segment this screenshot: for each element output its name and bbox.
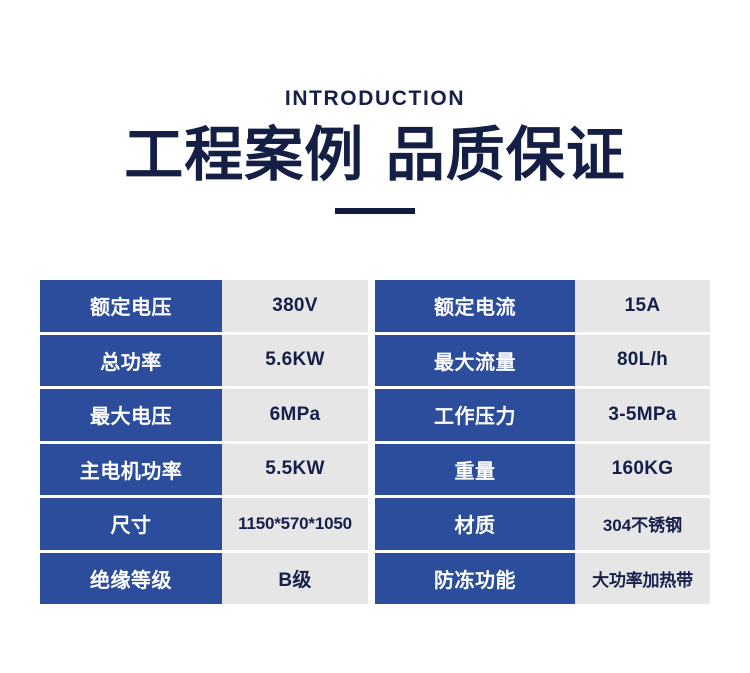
spec-value: 5.5KW [222,444,368,496]
spec-label: 重量 [375,444,575,496]
table-row: 额定电流 15A [375,280,710,335]
spec-label: 最大电压 [40,389,222,441]
spec-label: 最大流量 [375,335,575,387]
table-row: 总功率 5.6KW [40,335,368,390]
table-row: 最大流量 80L/h [375,335,710,390]
spec-label: 工作压力 [375,389,575,441]
spec-sheet-page: INTRODUCTION 工程案例 品质保证 额定电压 380V 总功率 5.6… [0,0,750,673]
spec-value: 304不锈钢 [575,498,710,550]
section-eyebrow: INTRODUCTION [0,86,750,112]
spec-value: 5.6KW [222,335,368,387]
spec-value: 3-5MPa [575,389,710,441]
page-title: 工程案例 品质保证 [0,118,750,192]
table-row: 工作压力 3-5MPa [375,389,710,444]
title-underline-rule [335,208,415,214]
page-header: INTRODUCTION 工程案例 品质保证 [0,0,750,214]
table-row: 主电机功率 5.5KW [40,444,368,499]
table-row: 最大电压 6MPa [40,389,368,444]
spec-value: 160KG [575,444,710,496]
table-row: 绝缘等级 B级 [40,553,368,605]
spec-table-left: 额定电压 380V 总功率 5.6KW 最大电压 6MPa 主电机功率 5.5K… [40,280,368,604]
spec-label: 主电机功率 [40,444,222,496]
table-row: 重量 160KG [375,444,710,499]
spec-value: 15A [575,280,710,332]
spec-label: 尺寸 [40,498,222,550]
spec-value: 80L/h [575,335,710,387]
spec-label: 绝缘等级 [40,553,222,605]
spec-value: 380V [222,280,368,332]
spec-label: 额定电流 [375,280,575,332]
spec-label: 总功率 [40,335,222,387]
spec-label: 防冻功能 [375,553,575,605]
spec-label: 材质 [375,498,575,550]
spec-label: 额定电压 [40,280,222,332]
spec-value: 1150*570*1050 [222,498,368,550]
spec-table-right: 额定电流 15A 最大流量 80L/h 工作压力 3-5MPa 重量 160KG… [375,280,710,604]
specification-tables: 额定电压 380V 总功率 5.6KW 最大电压 6MPa 主电机功率 5.5K… [40,280,710,604]
table-row: 尺寸 1150*570*1050 [40,498,368,553]
table-row: 材质 304不锈钢 [375,498,710,553]
table-row: 额定电压 380V [40,280,368,335]
spec-value: 6MPa [222,389,368,441]
spec-value: 大功率加热带 [575,553,710,605]
table-row: 防冻功能 大功率加热带 [375,553,710,605]
spec-value: B级 [222,553,368,605]
